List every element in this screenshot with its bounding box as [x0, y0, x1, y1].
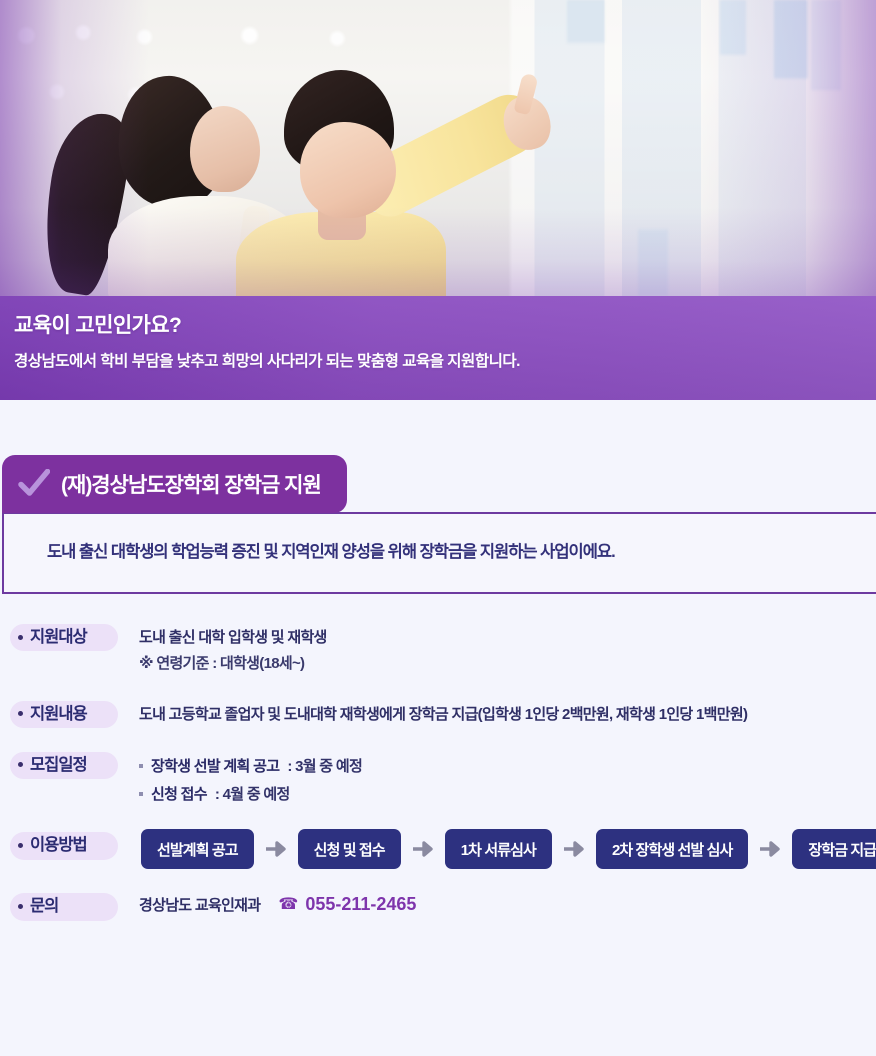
contact-line: 경상남도 교육인재과 ☎ 055-211-2465	[139, 894, 876, 915]
arrow-right-icon	[265, 840, 287, 858]
square-bullet-icon	[139, 764, 143, 768]
detail-label-target-text: 지원대상	[30, 626, 87, 648]
contact-phone[interactable]: ☎ 055-211-2465	[278, 894, 416, 915]
detail-row-target: 지원대상 도내 출신 대학 입학생 및 재학생 ※ 연령기준 : 대학생(18세…	[10, 624, 876, 677]
bullet-dot-icon	[18, 843, 23, 848]
detail-line: ※ 연령기준 : 대학생(18세~)	[139, 651, 876, 677]
telephone-icon: ☎	[278, 897, 298, 913]
check-icon	[18, 469, 50, 499]
schedule-item-title: 신청 접수	[151, 781, 207, 809]
bullet-dot-icon	[18, 904, 23, 909]
bullet-dot-icon	[18, 711, 23, 716]
contact-phone-number: 055-211-2465	[305, 894, 416, 915]
schedule-item: 장학생 선발 계획 공고 : 3월 중 예정	[139, 753, 876, 781]
detail-label-schedule-text: 모집일정	[30, 754, 87, 776]
detail-content-method: 선발계획 공고 신청 및 접수 1차 서류심사 2차 장학생 선발 심사	[118, 832, 876, 869]
program-title-label: (재)경상남도장학회 장학금 지원	[61, 469, 321, 499]
detail-line: 도내 출신 대학 입학생 및 재학생	[139, 625, 876, 651]
arrow-right-icon	[563, 840, 585, 858]
detail-label-inquiry: 문의	[10, 893, 118, 920]
scholarship-info-page: 교육이 고민인가요? 경상남도에서 학비 부담을 낮추고 희망의 사다리가 되는…	[0, 0, 876, 1056]
schedule-item: 신청 접수 : 4월 중 예정	[139, 781, 876, 809]
program-card: (재)경상남도장학회 장학금 지원 도내 출신 대학생의 학업능력 증진 및 지…	[0, 400, 876, 594]
detail-label-content-text: 지원내용	[30, 703, 87, 725]
process-step-3[interactable]: 1차 서류심사	[445, 829, 552, 869]
banner-title: 교육이 고민인가요?	[14, 313, 876, 338]
program-description-text: 도내 출신 대학생의 학업능력 증진 및 지역인재 양성을 위해 장학금을 지원…	[47, 541, 615, 564]
detail-label-method-text: 이용방법	[30, 834, 87, 856]
hero-image	[0, 0, 876, 296]
detail-row-schedule: 모집일정 장학생 선발 계획 공고 : 3월 중 예정 신청 접수 : 4월 중…	[10, 752, 876, 809]
detail-label-schedule: 모집일정	[10, 752, 118, 779]
process-step-1[interactable]: 선발계획 공고	[141, 829, 254, 869]
square-bullet-icon	[139, 792, 143, 796]
program-title-tab: (재)경상남도장학회 장학금 지원	[2, 455, 347, 513]
schedule-item-value: : 4월 중 예정	[215, 781, 290, 809]
process-step-5[interactable]: 장학금 지급	[792, 829, 876, 869]
detail-label-target: 지원대상	[10, 624, 118, 651]
bullet-dot-icon	[18, 635, 23, 640]
banner-subtitle: 경상남도에서 학비 부담을 낮추고 희망의 사다리가 되는 맞춤형 교육을 지원…	[14, 352, 876, 372]
arrow-right-icon	[759, 840, 781, 858]
detail-content-inquiry: 경상남도 교육인재과 ☎ 055-211-2465	[118, 893, 876, 915]
detail-content-target: 도내 출신 대학 입학생 및 재학생 ※ 연령기준 : 대학생(18세~)	[118, 624, 876, 677]
schedule-item-title: 장학생 선발 계획 공고	[151, 753, 279, 781]
process-step-4[interactable]: 2차 장학생 선발 심사	[596, 829, 748, 869]
schedule-item-value: : 3월 중 예정	[287, 753, 362, 781]
contact-department: 경상남도 교육인재과	[139, 894, 260, 915]
hero-purple-overlay	[0, 0, 876, 296]
detail-line: 도내 고등학교 졸업자 및 도내대학 재학생에게 장학금 지급(입학생 1인당 …	[139, 702, 876, 728]
detail-label-inquiry-text: 문의	[30, 895, 58, 917]
detail-row-method: 이용방법 선발계획 공고 신청 및 접수 1차 서류심사	[10, 832, 876, 869]
detail-row-inquiry: 문의 경상남도 교육인재과 ☎ 055-211-2465	[10, 893, 876, 920]
bullet-dot-icon	[18, 762, 23, 767]
detail-label-method: 이용방법	[10, 832, 118, 859]
process-flow: 선발계획 공고 신청 및 접수 1차 서류심사 2차 장학생 선발 심사	[139, 829, 876, 869]
detail-label-content: 지원내용	[10, 701, 118, 728]
detail-row-content: 지원내용 도내 고등학교 졸업자 및 도내대학 재학생에게 장학금 지급(입학생…	[10, 701, 876, 728]
detail-content-schedule: 장학생 선발 계획 공고 : 3월 중 예정 신청 접수 : 4월 중 예정	[118, 752, 876, 809]
program-details: 지원대상 도내 출신 대학 입학생 및 재학생 ※ 연령기준 : 대학생(18세…	[0, 594, 876, 921]
headline-banner: 교육이 고민인가요? 경상남도에서 학비 부담을 낮추고 희망의 사다리가 되는…	[0, 296, 876, 400]
program-description-box: 도내 출신 대학생의 학업능력 증진 및 지역인재 양성을 위해 장학금을 지원…	[2, 512, 876, 594]
detail-content-support: 도내 고등학교 졸업자 및 도내대학 재학생에게 장학금 지급(입학생 1인당 …	[118, 701, 876, 728]
process-step-2[interactable]: 신청 및 접수	[298, 829, 401, 869]
arrow-right-icon	[412, 840, 434, 858]
